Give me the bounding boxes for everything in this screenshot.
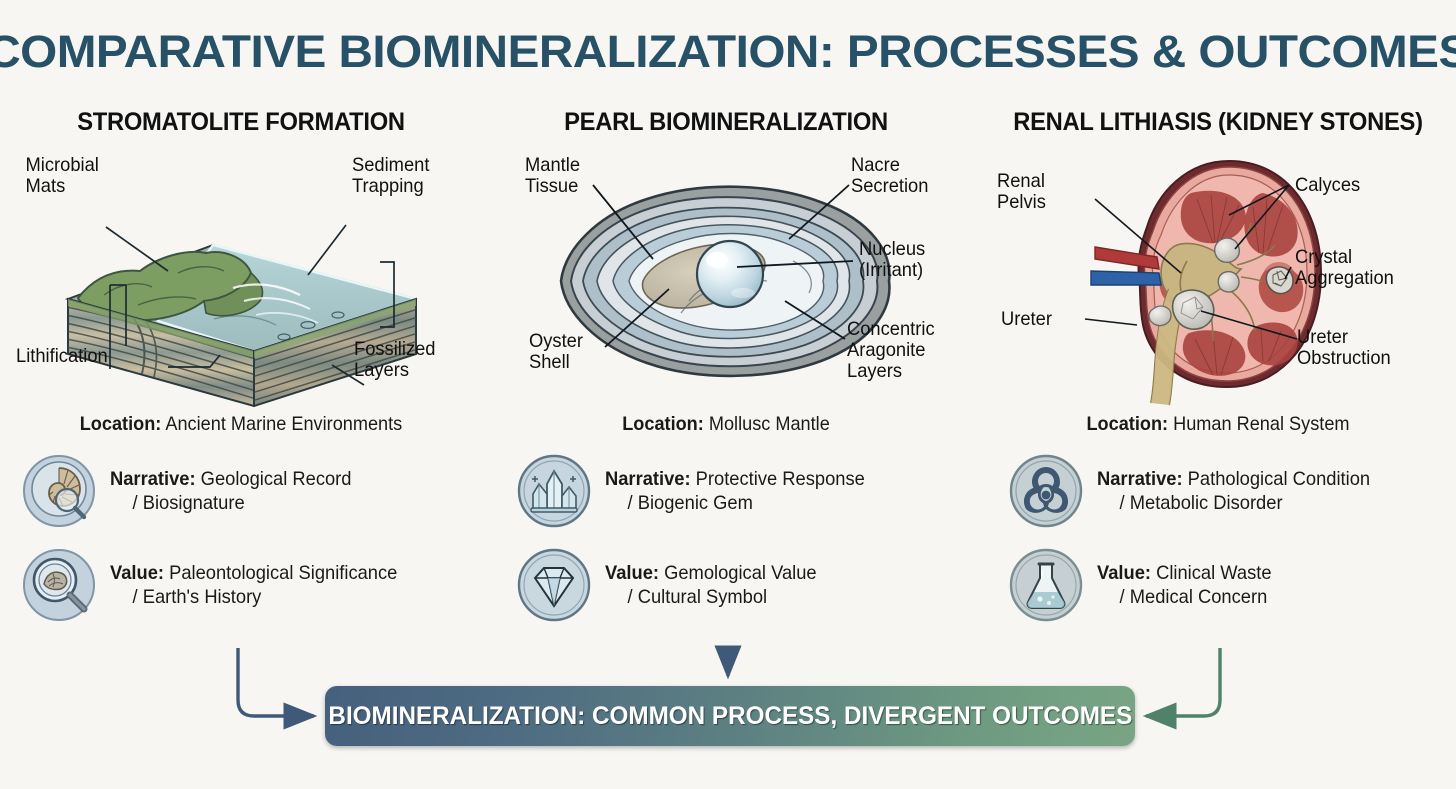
label-calyces: Calyces: [1295, 175, 1360, 196]
value-value-1: Paleontological Significance: [169, 562, 397, 584]
biohazard-icon: [1009, 454, 1083, 528]
narrative-text: Narrative: Pathological Condition / Meta…: [1097, 467, 1370, 515]
label-ureter: Ureter: [1001, 309, 1052, 330]
narrative-value-1: Pathological Condition: [1188, 468, 1370, 490]
value-text: Value: Paleontological Significance / Ea…: [110, 561, 397, 609]
stromatolite-block-diagram: Microbial Mats Sediment Trapping Lithifi…: [8, 149, 474, 407]
column-pearl: PEARL BIOMINERALIZATION: [493, 108, 959, 624]
label-sediment-trapping: Sediment Trapping: [352, 155, 429, 197]
value-value-1: Clinical Waste: [1156, 562, 1271, 584]
narrative-text: Narrative: Geological Record / Biosignat…: [110, 467, 351, 515]
label-concentric-aragonite-layers: Concentric Aragonite Layers: [847, 319, 935, 382]
kidney-cross-section-diagram: Renal Pelvis Calyces Crystal Aggregation…: [985, 149, 1451, 407]
summary-banner-text: BIOMINERALIZATION: COMMON PROCESS, DIVER…: [328, 702, 1132, 731]
value-text: Value: Clinical Waste / Medical Concern: [1097, 561, 1272, 609]
value-label: Value:: [1097, 562, 1151, 584]
label-nucleus-irritant: Nucleus (Irritant): [859, 239, 925, 281]
narrative-value-1: Geological Record: [201, 468, 352, 490]
location-row: Location: Ancient Marine Environments: [24, 413, 457, 436]
label-mantle-tissue: Mantle Tissue: [525, 155, 580, 197]
value-label: Value:: [605, 562, 659, 584]
summary-banner: BIOMINERALIZATION: COMMON PROCESS, DIVER…: [325, 686, 1135, 746]
location-row: Location: Mollusc Mantle: [509, 413, 942, 436]
column-heading: STROMATOLITE FORMATION: [20, 108, 463, 137]
label-lithification: Lithification: [16, 346, 108, 367]
value-row: Value: Gemological Value / Cultural Symb…: [507, 546, 959, 624]
value-value-2: / Medical Concern: [1097, 585, 1272, 609]
location-row: Location: Human Renal System: [1001, 413, 1434, 436]
narrative-row: Narrative: Protective Response / Biogeni…: [507, 452, 959, 530]
narrative-text: Narrative: Protective Response / Biogeni…: [605, 467, 865, 515]
narrative-value-2: / Biogenic Gem: [605, 491, 865, 515]
narrative-value-2: / Biosignature: [110, 491, 351, 515]
erlenmeyer-flask-icon: [1009, 548, 1083, 622]
location-label: Location:: [1086, 413, 1168, 435]
value-value-2: / Earth's History: [110, 585, 397, 609]
label-microbial-mats: Microbial Mats: [26, 155, 112, 197]
narrative-value-1: Protective Response: [696, 468, 865, 490]
column-renal-lithiasis: RENAL LITHIASIS (KIDNEY STONES): [985, 108, 1451, 624]
value-value-2: / Cultural Symbol: [605, 585, 817, 609]
location-value: Mollusc Mantle: [709, 413, 830, 435]
narrative-label: Narrative:: [110, 468, 196, 490]
label-nacre-secretion: Nacre Secretion: [851, 155, 928, 197]
magnifier-specimen-icon: [22, 548, 96, 622]
label-oyster-shell: Oyster Shell: [529, 331, 583, 373]
narrative-label: Narrative:: [1097, 468, 1183, 490]
column-heading: PEARL BIOMINERALIZATION: [505, 108, 948, 137]
label-fossilized-layers: Fossilized Layers: [354, 339, 436, 381]
value-label: Value:: [110, 562, 164, 584]
location-value: Human Renal System: [1173, 413, 1349, 435]
column-heading: RENAL LITHIASIS (KIDNEY STONES): [997, 108, 1440, 137]
value-text: Value: Gemological Value / Cultural Symb…: [605, 561, 817, 609]
value-row: Value: Paleontological Significance / Ea…: [12, 546, 474, 624]
location-label: Location:: [80, 413, 162, 435]
diamond-gem-icon: [517, 548, 591, 622]
ammonite-fossil-magnifier-icon: [22, 454, 96, 528]
value-row: Value: Clinical Waste / Medical Concern: [999, 546, 1451, 624]
crystal-cluster-icon: [517, 454, 591, 528]
value-value-1: Gemological Value: [664, 562, 817, 584]
label-ureter-obstruction: Ureter Obstruction: [1297, 327, 1391, 369]
label-renal-pelvis: Renal Pelvis: [997, 171, 1046, 213]
narrative-value-2: / Metabolic Disorder: [1097, 491, 1370, 515]
location-value: Ancient Marine Environments: [165, 413, 402, 435]
narrative-row: Narrative: Geological Record / Biosignat…: [12, 452, 474, 530]
label-crystal-aggregation: Crystal Aggregation: [1295, 247, 1394, 289]
pearl-oyster-diagram: Mantle Tissue Nacre Secretion Nucleus (I…: [493, 149, 959, 407]
narrative-label: Narrative:: [605, 468, 691, 490]
narrative-row: Narrative: Pathological Condition / Meta…: [999, 452, 1451, 530]
location-label: Location:: [622, 413, 704, 435]
arrow-left-to-banner: [238, 648, 314, 716]
page-title: COMPARATIVE BIOMINERALIZATION: PROCESSES…: [0, 26, 1456, 78]
column-stromatolite: STROMATOLITE FORMATION: [8, 108, 474, 624]
arrow-right-to-banner: [1146, 648, 1220, 716]
